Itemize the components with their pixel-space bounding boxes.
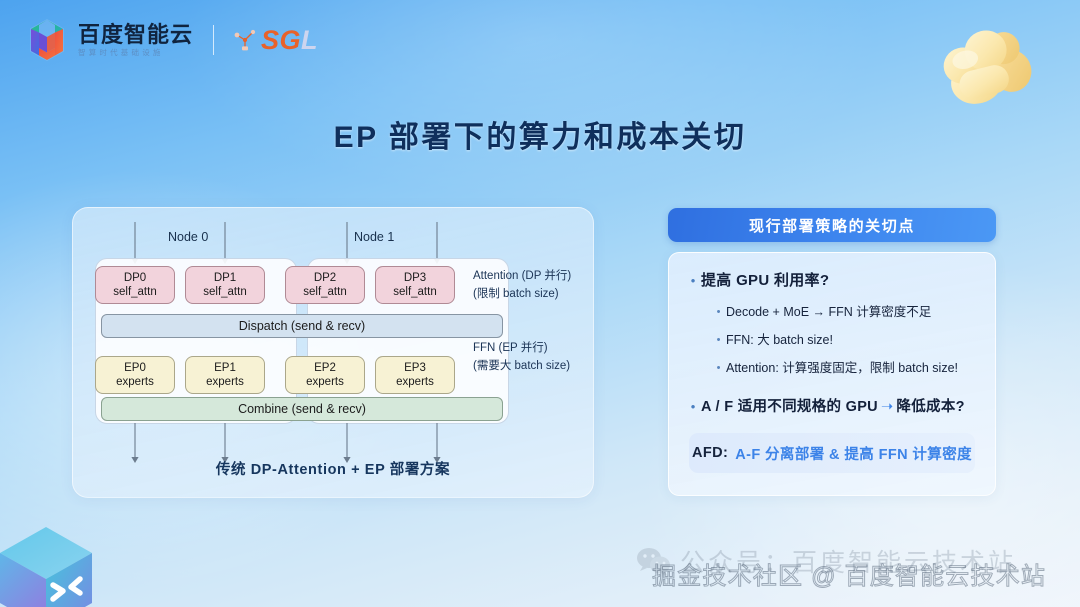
bullet-af-gpu-cost: • A / F 适用不同规格的 GPU➝降低成本? [685, 397, 979, 417]
unit-dp0-line2: self_attn [113, 285, 156, 299]
bullet-gpu-utilization-text: 提高 GPU 利用率? [701, 271, 829, 291]
afd-value-text: A-F 分离部署 & 提高 FFN 计算密度 [735, 443, 972, 464]
sub-bullet-attention: • Attention: 计算强度固定，限制 batch size! [711, 359, 979, 377]
sub-bullet-ffn: • FFN: 大 batch size! [711, 331, 979, 349]
side-note-ffn-line1: FFN (EP 并行) [473, 340, 570, 358]
page-title: EP 部署下的算力和成本关切 [0, 112, 1080, 156]
baidu-logo-icon [26, 17, 68, 63]
unit-dp0: DP0 self_attn [95, 266, 175, 304]
afd-key-text: AFD: [692, 445, 728, 461]
unit-ep0-line2: experts [116, 375, 154, 389]
brand-header: 百度智能云 智算时代基础设施 SGL [26, 16, 318, 64]
bullet-af-before-text: A / F 适用不同规格的 GPU [701, 399, 878, 415]
side-note-attention: Attention (DP 并行) (限制 batch size) [473, 268, 571, 304]
header-divider [213, 25, 214, 55]
bullet-gpu-utilization: • 提高 GPU 利用率? [685, 271, 979, 291]
diagram-caption: 传统 DP-Attention + EP 部署方案 [73, 458, 593, 479]
gpu-utilization-sublist: • Decode + MoE → FFN 计算密度不足 • FFN: 大 bat… [711, 303, 979, 377]
brand-tagline: 智算时代基础设施 [78, 48, 193, 58]
panel-header-title: 现行部署策略的关切点 [668, 208, 996, 242]
unit-dp2-line2: self_attn [303, 285, 346, 299]
architecture-diagram-card: Node 0 Node 1 DP0 self_attn DP1 self_att… [72, 207, 594, 498]
unit-dp1: DP1 self_attn [185, 266, 265, 304]
side-note-ffn-line2: (需要大 batch size) [473, 358, 570, 376]
juejin-watermark-text: 掘金技术社区 @ 百度智能云技术站 [652, 556, 1046, 591]
sub-bullet-attention-text: Attention: 计算强度固定，限制 batch size! [726, 359, 958, 377]
unit-ep1-line2: experts [206, 375, 244, 389]
cube-3d-ornament [0, 507, 110, 607]
cloud-3d-ornament [934, 14, 1046, 122]
unit-ep3: EP3 experts [375, 356, 455, 394]
unit-ep2-line2: experts [306, 375, 344, 389]
node-gap-attention [265, 266, 285, 304]
wechat-icon [636, 546, 670, 576]
unit-dp1-line1: DP1 [214, 271, 236, 285]
node-graph-icon [232, 27, 258, 53]
unit-dp3-line1: DP3 [404, 271, 426, 285]
wechat-watermark: 公众号：百度智能云技术站 [636, 543, 1016, 579]
unit-ep2: EP2 experts [285, 356, 365, 394]
sub-bullet-dot-icon: • [711, 359, 726, 377]
unit-ep1: EP1 experts [185, 356, 265, 394]
sub-bullet-decode-moe: • Decode + MoE → FFN 计算密度不足 [711, 303, 979, 321]
brand-name: 百度智能云 [78, 23, 193, 46]
unit-dp2-line1: DP2 [314, 271, 336, 285]
concerns-panel: 现行部署策略的关切点 • 提高 GPU 利用率? • Decode + MoE … [668, 208, 996, 496]
side-note-attention-line1: Attention (DP 并行) [473, 268, 571, 286]
sgl-logo: SGL [232, 27, 318, 54]
unit-dp3-line2: self_attn [393, 285, 436, 299]
panel-body: • 提高 GPU 利用率? • Decode + MoE → FFN 计算密度不… [668, 252, 996, 496]
wechat-watermark-text: 公众号：百度智能云技术站 [680, 543, 1016, 579]
side-note-ffn: FFN (EP 并行) (需要大 batch size) [473, 340, 570, 376]
unit-dp2: DP2 self_attn [285, 266, 365, 304]
unit-dp1-line2: self_attn [203, 285, 246, 299]
unit-dp3: DP3 self_attn [375, 266, 455, 304]
bullet-dot-icon: • [685, 397, 701, 417]
sub-bullet-ffn-text: FFN: 大 batch size! [726, 331, 833, 349]
attention-layer: DP0 self_attn DP1 self_attn DP2 self_att… [95, 266, 455, 304]
unit-ep1-line1: EP1 [214, 361, 236, 375]
sgl-primary-text: SG [261, 25, 301, 55]
unit-ep0: EP0 experts [95, 356, 175, 394]
combine-bar: Combine (send & recv) [101, 397, 503, 421]
node-gap-ffn [265, 356, 285, 394]
sub-bullet-dot-icon: • [711, 303, 726, 321]
bullet-af-after-text: 降低成本? [896, 399, 964, 415]
unit-ep3-line2: experts [396, 375, 434, 389]
sub-bullet-decode-moe-text: Decode + MoE → FFN 计算密度不足 [726, 303, 931, 321]
bullet-dot-icon: • [685, 271, 701, 291]
arrow-right-icon: ➝ [878, 399, 896, 415]
unit-dp0-line1: DP0 [124, 271, 146, 285]
unit-ep2-line1: EP2 [314, 361, 336, 375]
unit-ep0-line1: EP0 [124, 361, 146, 375]
side-note-attention-line2: (限制 batch size) [473, 286, 571, 304]
sub-bullet-dot-icon: • [711, 331, 726, 349]
dispatch-bar: Dispatch (send & recv) [101, 314, 503, 338]
afd-highlight-box: AFD: A-F 分离部署 & 提高 FFN 计算密度 [689, 433, 975, 473]
unit-ep3-line1: EP3 [404, 361, 426, 375]
ffn-layer: EP0 experts EP1 experts EP2 experts EP3 … [95, 356, 455, 394]
sgl-secondary-text: L [301, 25, 318, 55]
